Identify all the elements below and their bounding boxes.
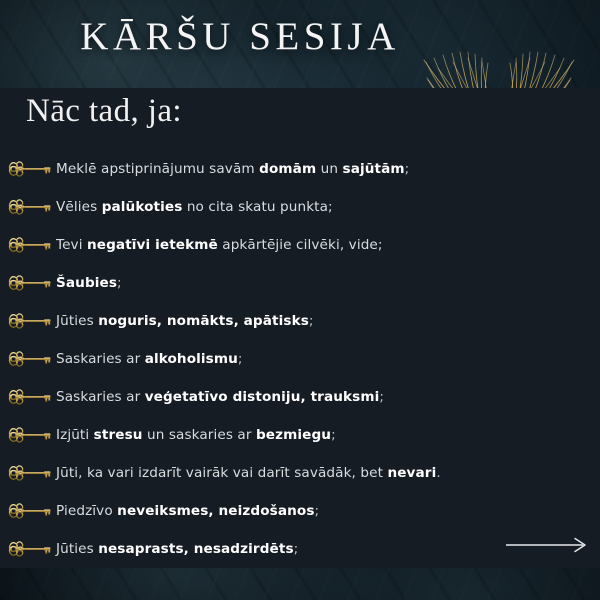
gold-key-icon bbox=[7, 462, 54, 484]
list-item: Vēlies palūkoties no cita skatu punkta; bbox=[0, 188, 600, 226]
gold-key-icon bbox=[7, 424, 54, 446]
list-item: Saskaries ar alkoholismu; bbox=[0, 340, 600, 378]
gold-key-icon bbox=[7, 272, 54, 294]
list-item: Saskaries ar veģetatīvo distoniju, trauk… bbox=[0, 378, 600, 416]
gold-key-icon bbox=[7, 500, 54, 522]
list-item-label: Jūties noguris, nomākts, apātisks; bbox=[56, 313, 314, 329]
list-item: Jūties noguris, nomākts, apātisks; bbox=[0, 302, 600, 340]
list-item: Izjūti stresu un saskaries ar bezmiegu; bbox=[0, 416, 600, 454]
list-item-label: Jūti, ka vari izdarīt vairāk vai darīt s… bbox=[56, 465, 441, 481]
list-item-label: Vēlies palūkoties no cita skatu punkta; bbox=[56, 199, 333, 215]
gold-key-icon bbox=[7, 538, 54, 560]
gold-key-icon bbox=[7, 196, 54, 218]
list-item-label: Saskaries ar alkoholismu; bbox=[56, 351, 243, 367]
list-item: Tevi negatīvi ietekmē apkārtējie cilvēki… bbox=[0, 226, 600, 264]
list-item-label: Šaubies; bbox=[56, 275, 122, 291]
list-item-label: Jūties nesaprasts, nesadzirdēts; bbox=[56, 541, 298, 557]
list-item-label: Izjūti stresu un saskaries ar bezmiegu; bbox=[56, 427, 336, 443]
list-item-label: Tevi negatīvi ietekmē apkārtējie cilvēki… bbox=[56, 237, 383, 253]
list-item-label: Meklē apstiprinājumu savām domām un sajū… bbox=[56, 161, 409, 177]
poster-canvas: KĀRŠU SESIJA bbox=[0, 0, 600, 600]
list-item: Piedzīvo neveiksmes, neizdošanos; bbox=[0, 492, 600, 530]
content-panel: Nāc tad, ja: Meklē apstiprinājumu bbox=[0, 88, 600, 568]
gold-key-icon bbox=[7, 234, 54, 256]
gold-key-icon bbox=[7, 310, 54, 332]
arrow-right-icon[interactable] bbox=[505, 537, 591, 553]
section-subtitle: Nāc tad, ja: bbox=[26, 94, 182, 129]
conditions-list: Meklē apstiprinājumu savām domām un sajū… bbox=[0, 150, 600, 568]
list-item-label: Saskaries ar veģetatīvo distoniju, trauk… bbox=[56, 389, 384, 405]
list-item-label: Piedzīvo neveiksmes, neizdošanos; bbox=[56, 503, 319, 519]
gold-key-icon bbox=[7, 386, 54, 408]
gold-key-icon bbox=[7, 158, 54, 180]
list-item: Meklē apstiprinājumu savām domām un sajū… bbox=[0, 150, 600, 188]
gold-key-icon bbox=[7, 348, 54, 370]
list-item: Šaubies; bbox=[0, 264, 600, 302]
list-item: Jūti, ka vari izdarīt vairāk vai darīt s… bbox=[0, 454, 600, 492]
